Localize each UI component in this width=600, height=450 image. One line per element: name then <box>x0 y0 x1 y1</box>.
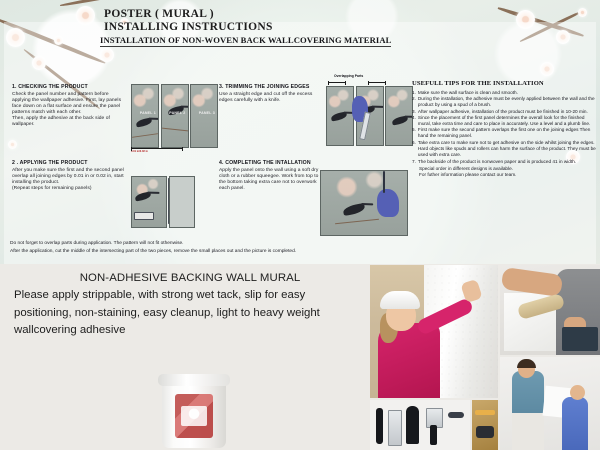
tip-number: 2. <box>412 96 416 108</box>
step-3-body: Use a straight edge and cut off the exce… <box>219 92 323 104</box>
diagram-panel-1: PANEL 1 <box>131 84 159 148</box>
footnotes: Do not forget to overlap parts during ap… <box>10 240 430 256</box>
title-block: POSTER ( MURAL ) INSTALLING INSTRUCTIONS <box>104 8 273 34</box>
tip-number: 1. <box>412 90 416 96</box>
tip-item: 3. After wallpaper adhesive, installatio… <box>412 109 596 115</box>
page-subtitle-line: INSTALLING INSTRUCTIONS <box>104 21 273 34</box>
tips-closing-line: For futher information please contact ou… <box>412 172 596 178</box>
dimension-line <box>131 148 183 149</box>
photo-man-and-child <box>500 357 600 450</box>
bucket-label <box>175 394 213 438</box>
step-3-heading: 3. TRIMMING THE JOINING EDGES <box>219 84 323 90</box>
document-subtitle: INSTALLATION OF NON-WOVEN BACK WALLCOVER… <box>100 35 391 47</box>
promo-heading: NON-ADHESIVE BACKING WALL MURAL <box>14 272 366 284</box>
diagram-wall <box>169 176 195 228</box>
step-4-body: Apply the panel onto the wall using a so… <box>219 168 323 192</box>
panel-art <box>162 85 188 147</box>
promo-body: Please apply strippable, with strong wet… <box>14 287 366 340</box>
photo-paste-table <box>472 400 498 450</box>
instruction-sheet-page: POSTER ( MURAL ) INSTALLING INSTRUCTIONS… <box>0 0 600 450</box>
step-2: 2 . APPLYING THE PRODUCT After you make … <box>12 160 124 192</box>
diagram-panel-2: PANEL 2 <box>161 84 189 148</box>
man-hair <box>517 359 536 368</box>
dimension-label: 0.01 in/0.02 in <box>131 150 148 153</box>
step-4-diagram <box>320 170 408 236</box>
overlap-dim-right <box>368 82 386 83</box>
tip-number: 5. <box>412 127 416 139</box>
tip-text: After wallpaper adhesive, installation o… <box>418 109 596 115</box>
tip-text: Make sure the wall surface is clean and … <box>418 90 596 96</box>
squeegee-icon <box>406 406 419 444</box>
footnote-1: Do not forget to overlap parts during ap… <box>10 240 430 248</box>
step-1: 1. CHECKING THE PRODUCT Check the panel … <box>12 84 124 127</box>
tips-closing-text: Special order in different designs is av… <box>419 166 596 172</box>
tip-number: 7. <box>412 159 416 165</box>
step-3: 3. TRIMMING THE JOINING EDGES Use a stra… <box>219 84 323 104</box>
tip-item: 4. Since the placement of the first pane… <box>412 115 596 127</box>
tip-item: 5. First make sure the second pattern ov… <box>412 127 596 139</box>
step-2-heading: 2 . APPLYING THE PRODUCT <box>12 160 124 166</box>
diagram-panel-apply <box>131 176 167 228</box>
tip-number: 6. <box>412 140 416 158</box>
overlap-label: Overlapping Parts <box>334 74 363 78</box>
step-2-body: After you make sure the first and the se… <box>12 168 124 192</box>
child-head <box>570 385 585 400</box>
panel-art <box>191 85 217 147</box>
step-1-body: Check the panel number and pattern befor… <box>12 92 124 127</box>
panel-2-label: PANEL 2 <box>169 111 185 115</box>
overlap-dim-left <box>328 82 346 83</box>
page-title: POSTER ( MURAL ) <box>104 8 273 21</box>
woman-cap <box>380 291 420 309</box>
panel-edge-line <box>168 178 169 224</box>
tip-item: 2. During the installation, the adhesive… <box>412 96 596 108</box>
paste-brush-icon <box>475 410 495 415</box>
brush-handle-icon <box>376 408 383 444</box>
tip-item: 7. The backside of the product is nonwov… <box>412 159 596 165</box>
photo-collage <box>370 265 600 450</box>
tip-text: During the installation, the adhesive mu… <box>418 96 596 108</box>
step-2-diagram <box>131 176 195 228</box>
bucket-lid <box>158 374 230 386</box>
tips-closing-line: Special order in different designs is av… <box>412 166 596 172</box>
tip-text: Since the placement of the first panel d… <box>418 115 596 127</box>
step-4-heading: 4. COMPLETING THE INTALLATION <box>219 160 323 166</box>
panel-3-label: PANEL 3 <box>199 111 215 115</box>
blossom-decor <box>578 8 587 17</box>
photo-woman-applying-wallpaper <box>370 265 498 398</box>
photo-wallpaper-tools <box>370 400 470 450</box>
child-body <box>562 397 588 450</box>
seam-roller-icon <box>448 412 464 418</box>
step-1-heading: 1. CHECKING THE PRODUCT <box>12 84 124 90</box>
tip-text: Take extra care to make sure not to get … <box>418 140 596 158</box>
paste-bucket-icon <box>476 426 494 438</box>
tip-number: 4. <box>412 115 416 127</box>
smoothing-blade-icon <box>388 410 402 446</box>
step-4: 4. COMPLETING THE INTALLATION Apply the … <box>219 160 323 192</box>
promo-block: NON-ADHESIVE BACKING WALL MURAL Please a… <box>14 272 366 340</box>
tip-text: First make sure the second pattern overl… <box>418 127 596 139</box>
photo-paste-roller <box>500 265 600 355</box>
squeegee-icon <box>134 212 154 220</box>
footnote-2: After the application, cut the middle of… <box>10 248 435 256</box>
diagram-trim-panel-1 <box>326 86 354 146</box>
panel-1-label: PANEL 1 <box>140 111 156 115</box>
tip-text: The backside of the product is nonwoven … <box>418 159 596 165</box>
panel-art <box>132 85 158 147</box>
tips-heading: USEFULL TIPS FOR THE INSTALLATION <box>412 80 596 87</box>
glove-icon <box>377 189 399 217</box>
tip-number: 3. <box>412 109 416 115</box>
man-trousers <box>512 411 544 450</box>
tip-item: 1. Make sure the wall surface is clean a… <box>412 90 596 96</box>
diagram-panel-3: PANEL 3 <box>190 84 218 148</box>
scraper-handle-icon <box>430 425 437 445</box>
adhesive-bucket <box>158 372 230 448</box>
step-1-diagram: PANEL 1 PANEL 2 PANEL 3 <box>131 84 218 148</box>
diagram-trim-panel-3 <box>385 86 413 146</box>
tips-closing-text: For futher information please contact ou… <box>419 172 596 178</box>
diagram-complete-panel <box>320 170 408 236</box>
tip-item: 6. Take extra care to make sure not to g… <box>412 140 596 158</box>
paste-tray <box>562 327 598 351</box>
tips-section: USEFULL TIPS FOR THE INSTALLATION 1. Mak… <box>412 80 596 179</box>
